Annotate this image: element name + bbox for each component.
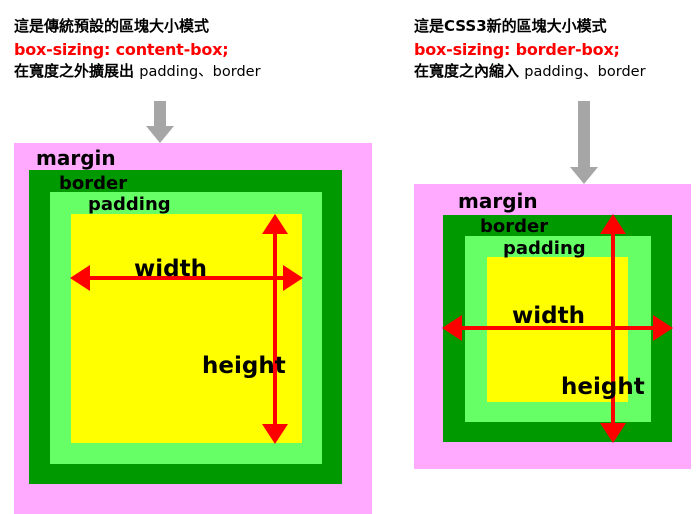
width-label: width — [512, 303, 585, 329]
caption-left-line3: 在寬度之外擴展出 padding、border — [14, 61, 261, 83]
margin-label: margin — [458, 189, 538, 213]
margin-label: margin — [36, 146, 116, 170]
caption-border-box: 這是CSS3新的區塊大小模式 box-sizing: border-box; 在… — [414, 16, 646, 83]
height-label: height — [202, 353, 286, 379]
caption-left-line3-latin: padding、border — [139, 64, 260, 80]
height-measure-arrow — [600, 214, 626, 443]
caption-right-line3-latin: padding、border — [524, 64, 645, 80]
padding-label: padding — [503, 238, 586, 259]
caption-left-line3-cjk: 在寬度之外擴展出 — [14, 62, 134, 80]
arrow-head-left — [70, 265, 90, 291]
arrow-head-top — [600, 214, 626, 234]
arrow-head-right — [653, 315, 673, 341]
arrow-head-bottom — [600, 423, 626, 443]
caption-right-code: box-sizing: border-box; — [414, 38, 646, 61]
arrow-head-top — [262, 214, 288, 234]
box-model-diagram-content-box: margin border padding width height — [14, 143, 372, 514]
caption-right-line3-cjk: 在寬度之內縮入 — [414, 62, 519, 80]
diagram-canvas: 這是傳統預設的區塊大小模式 box-sizing: content-box; 在… — [0, 0, 700, 514]
arrow-shaft — [611, 225, 615, 432]
width-label: width — [134, 256, 207, 282]
arrow-head-left — [442, 315, 462, 341]
arrow-shaft — [273, 225, 277, 433]
arrow-head-bottom — [262, 424, 288, 444]
caption-content-box: 這是傳統預設的區塊大小模式 box-sizing: content-box; 在… — [14, 16, 261, 83]
caption-right-line1: 這是CSS3新的區塊大小模式 — [414, 16, 646, 38]
height-measure-arrow — [262, 214, 288, 444]
down-arrow-icon-left — [144, 101, 176, 143]
arrow-shaft — [578, 101, 590, 168]
caption-right-line3: 在寬度之內縮入 padding、border — [414, 61, 646, 83]
padding-label: padding — [88, 194, 171, 215]
arrow-shaft — [154, 101, 166, 127]
height-label: height — [561, 374, 645, 400]
arrow-head — [146, 126, 174, 143]
border-label: border — [59, 173, 127, 194]
caption-left-line1: 這是傳統預設的區塊大小模式 — [14, 16, 261, 38]
border-label: border — [480, 216, 548, 237]
down-arrow-icon-right — [568, 101, 600, 185]
caption-left-code: box-sizing: content-box; — [14, 38, 261, 61]
box-model-diagram-border-box: margin border padding width height — [414, 184, 691, 469]
arrow-head — [570, 167, 598, 184]
